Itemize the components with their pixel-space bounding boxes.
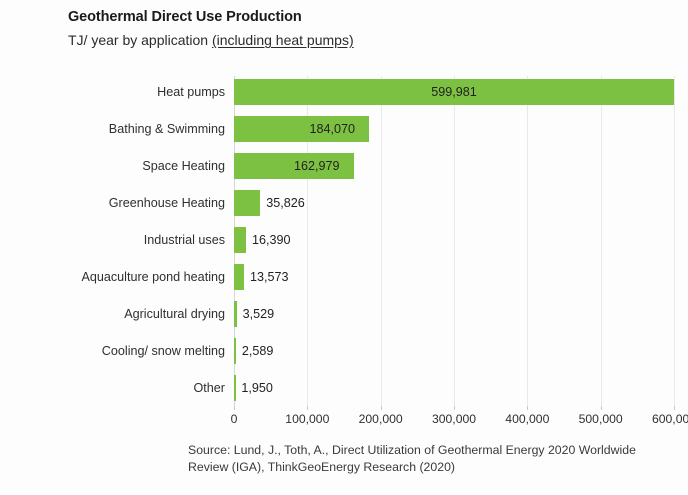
bar-value-label: 13,573 xyxy=(250,264,289,290)
bar[interactable] xyxy=(234,264,244,290)
category-label: Cooling/ snow melting xyxy=(102,338,225,364)
bar-value-label: 1,950 xyxy=(241,375,273,401)
bar[interactable] xyxy=(234,301,237,327)
gridline xyxy=(381,76,382,406)
bar-row[interactable]: Other1,950 xyxy=(234,375,235,401)
gridline xyxy=(454,76,455,406)
category-label: Space Heating xyxy=(142,153,225,179)
bar-row[interactable]: Cooling/ snow melting2,589 xyxy=(234,338,236,364)
category-label: Heat pumps xyxy=(157,79,225,105)
category-label: Bathing & Swimming xyxy=(109,116,225,142)
x-tick-label: 200,000 xyxy=(359,412,403,426)
x-tick-label: 100,000 xyxy=(285,412,329,426)
category-label: Industrial uses xyxy=(144,227,225,253)
chart-header: Geothermal Direct Use Production TJ/ yea… xyxy=(68,8,628,50)
x-axis: 0100,000200,000300,000400,000500,000600,… xyxy=(234,406,674,430)
bar-value-label: 162,979 xyxy=(234,153,340,179)
source-line-1: Source: Lund, J., Toth, A., Direct Utili… xyxy=(188,442,668,459)
x-tick-label: 300,000 xyxy=(432,412,476,426)
bar-value-label: 16,390 xyxy=(252,227,291,253)
x-tick-mark xyxy=(527,406,528,410)
bar-row[interactable]: Bathing & Swimming184,070 xyxy=(234,116,369,142)
source-line-2: Review (IGA), ThinkGeoEnergy Research (2… xyxy=(188,459,668,476)
bar[interactable] xyxy=(234,190,260,216)
x-tick-mark xyxy=(234,406,235,410)
bar[interactable] xyxy=(234,338,236,364)
bar[interactable] xyxy=(234,227,246,253)
gridline xyxy=(674,76,675,406)
bar-row[interactable]: Greenhouse Heating35,826 xyxy=(234,190,260,216)
chart-page: Geothermal Direct Use Production TJ/ yea… xyxy=(0,0,688,495)
bar-value-label: 184,070 xyxy=(234,116,355,142)
x-tick-mark xyxy=(454,406,455,410)
x-tick-mark xyxy=(381,406,382,410)
chart-subtitle-plain: TJ/ year by application xyxy=(68,32,212,48)
x-tick-mark xyxy=(601,406,602,410)
gridline xyxy=(527,76,528,406)
x-tick-label: 400,000 xyxy=(505,412,549,426)
gridline xyxy=(601,76,602,406)
category-label: Aquaculture pond heating xyxy=(81,264,225,290)
bar[interactable] xyxy=(234,375,236,401)
x-tick-label: 500,000 xyxy=(579,412,623,426)
x-tick-mark xyxy=(674,406,675,410)
bar-row[interactable]: Heat pumps599,981 xyxy=(234,79,674,105)
bar-value-label: 35,826 xyxy=(266,190,305,216)
bar-value-label: 599,981 xyxy=(234,79,674,105)
bar-row[interactable]: Space Heating162,979 xyxy=(234,153,354,179)
bar-value-label: 2,589 xyxy=(242,338,274,364)
bar-value-label: 3,529 xyxy=(243,301,275,327)
x-tick-label: 0 xyxy=(231,412,238,426)
category-label: Other xyxy=(194,375,226,401)
bar-row[interactable]: Aquaculture pond heating13,573 xyxy=(234,264,244,290)
category-label: Greenhouse Heating xyxy=(109,190,225,216)
x-tick-label: 600,000 xyxy=(652,412,688,426)
chart-subtitle: TJ/ year by application (including heat … xyxy=(68,30,628,50)
bar-row[interactable]: Industrial uses16,390 xyxy=(234,227,246,253)
source-note: Source: Lund, J., Toth, A., Direct Utili… xyxy=(188,442,668,476)
page-title: Geothermal Direct Use Production xyxy=(68,8,628,27)
x-tick-mark xyxy=(307,406,308,410)
category-label: Agricultural drying xyxy=(124,301,225,327)
plot-area: Heat pumps599,981Bathing & Swimming184,0… xyxy=(234,76,674,406)
bar-row[interactable]: Agricultural drying3,529 xyxy=(234,301,237,327)
chart-subtitle-underlined: (including heat pumps) xyxy=(212,32,354,48)
